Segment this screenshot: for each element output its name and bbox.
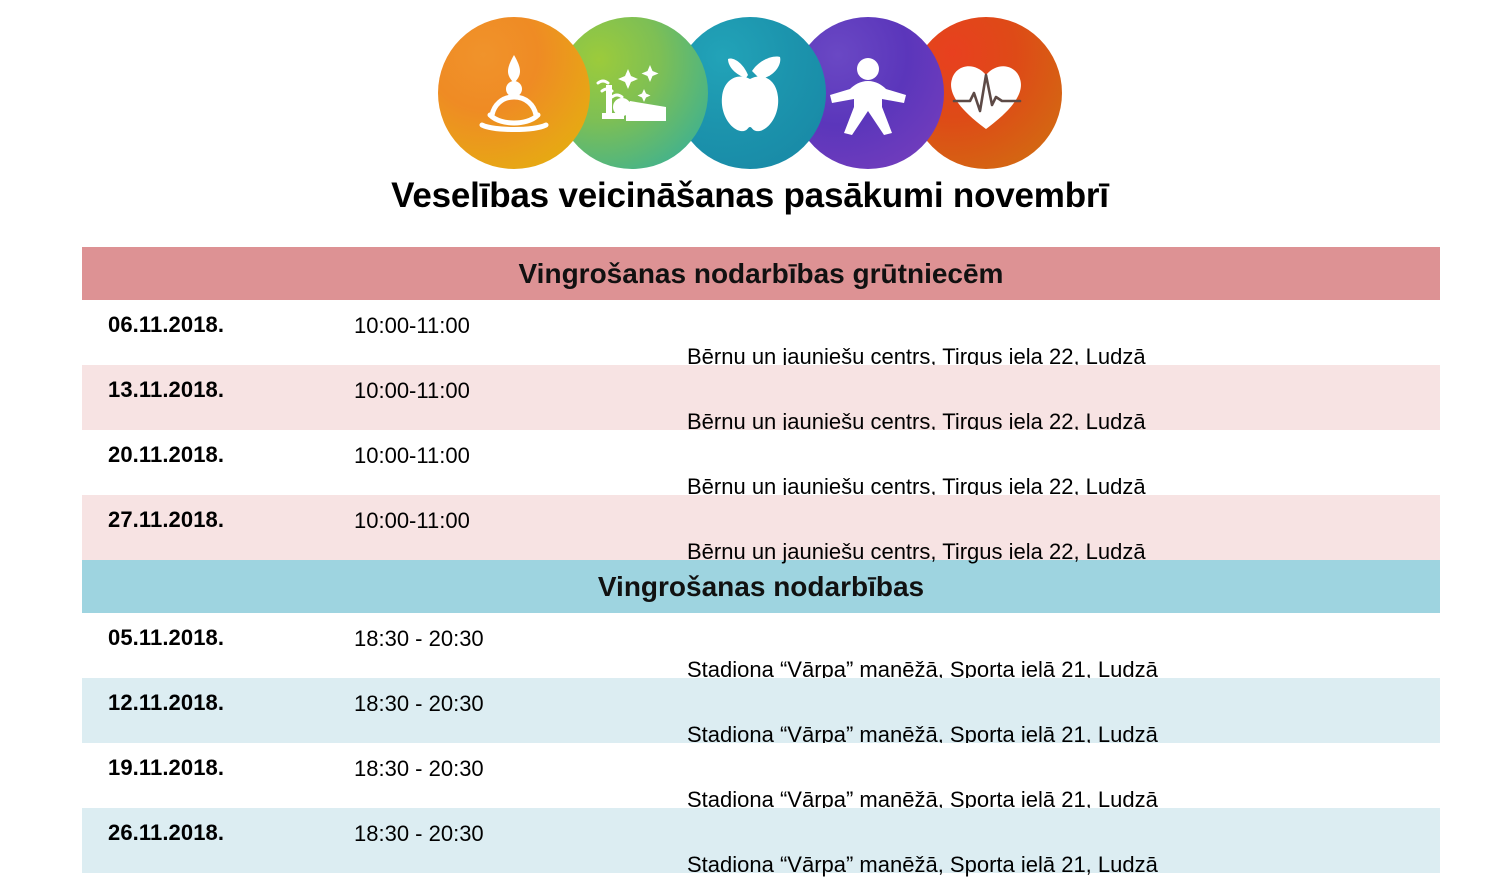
table-row[interactable]: 20.11.2018. 10:00-11:00 Bērnu un jaunieš…	[82, 430, 1440, 495]
health-promotion-logo	[438, 9, 1063, 169]
section-header-general-exercise: Vingrošanas nodarbības	[82, 560, 1440, 613]
logo-banner	[0, 0, 1500, 178]
yoga-meditation-icon	[438, 17, 590, 169]
row-date: 05.11.2018.	[108, 625, 224, 651]
table-row[interactable]: 05.11.2018. 18:30 - 20:30 Stadiona “Vārp…	[82, 613, 1440, 678]
row-date: 26.11.2018.	[108, 820, 224, 846]
table-row[interactable]: 26.11.2018. 18:30 - 20:30 Stadiona “Vārp…	[82, 808, 1440, 873]
row-date: 27.11.2018.	[108, 507, 224, 533]
row-time: 10:00-11:00	[354, 443, 470, 469]
table-row[interactable]: 12.11.2018. 18:30 - 20:30 Stadiona “Vārp…	[82, 678, 1440, 743]
row-time: 10:00-11:00	[354, 378, 470, 404]
row-time: 10:00-11:00	[354, 508, 470, 534]
row-time: 10:00-11:00	[354, 313, 470, 339]
row-date: 12.11.2018.	[108, 690, 224, 716]
page-title: Veselības veicināšanas pasākumi novembrī	[0, 178, 1500, 235]
schedule-table: Vingrošanas nodarbības grūtniecēm 06.11.…	[82, 247, 1440, 873]
row-time: 18:30 - 20:30	[354, 756, 484, 782]
table-row[interactable]: 27.11.2018. 10:00-11:00 Bērnu un jaunieš…	[82, 495, 1440, 560]
row-time: 18:30 - 20:30	[354, 821, 484, 847]
row-venue: Bērnu un jauniešu centrs, Tirgus iela 22…	[687, 539, 1146, 565]
table-row[interactable]: 19.11.2018. 18:30 - 20:30 Stadiona “Vārp…	[82, 743, 1440, 808]
row-time: 18:30 - 20:30	[354, 626, 484, 652]
row-date: 19.11.2018.	[108, 755, 224, 781]
row-time: 18:30 - 20:30	[354, 691, 484, 717]
table-row[interactable]: 13.11.2018. 10:00-11:00 Bērnu un jaunieš…	[82, 365, 1440, 430]
table-row[interactable]: 06.11.2018. 10:00-11:00 Bērnu un jaunieš…	[82, 300, 1440, 365]
section-header-pregnancy-exercise: Vingrošanas nodarbības grūtniecēm	[82, 247, 1440, 300]
row-venue: Stadiona “Vārpa” manēžā, Sporta ielā 21,…	[687, 852, 1158, 878]
row-date: 20.11.2018.	[108, 442, 224, 468]
row-date: 13.11.2018.	[108, 377, 224, 403]
row-date: 06.11.2018.	[108, 312, 224, 338]
